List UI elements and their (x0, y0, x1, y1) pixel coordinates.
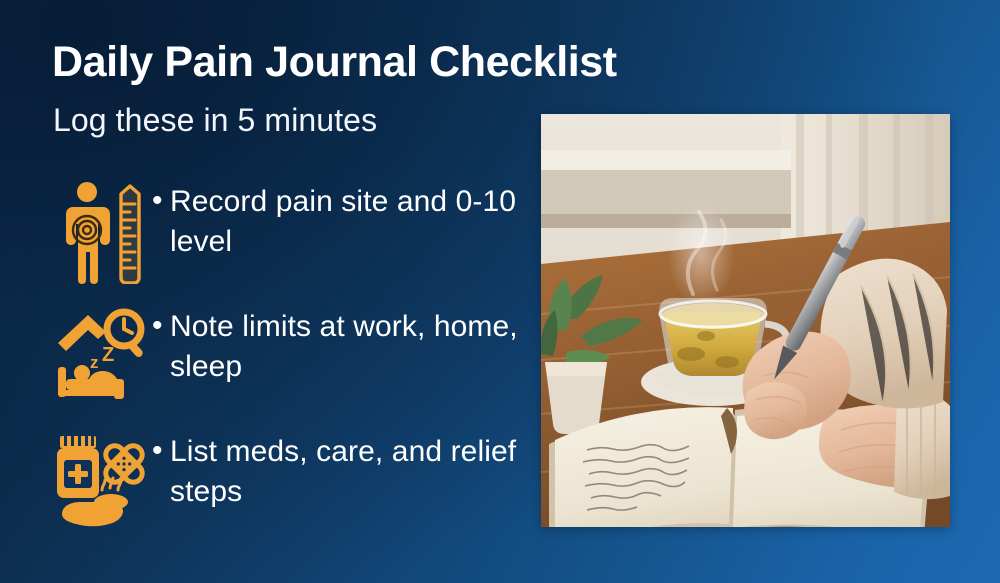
page-title: Daily Pain Journal Checklist (52, 40, 812, 85)
list-item: • List meds, care, and relief steps (52, 426, 522, 551)
list-item-label: Record pain site and 0-10 level (170, 176, 522, 261)
home-clock-bed-icon: z Z (52, 301, 152, 401)
bullet-marker: • (152, 176, 170, 222)
list-item-label: List meds, care, and relief steps (170, 426, 522, 511)
bullet-marker: • (152, 301, 170, 347)
svg-text:Z: Z (102, 344, 114, 366)
list-item: z Z • Note limits at work, home, sleep (52, 301, 522, 426)
page-subtitle: Log these in 5 minutes (53, 102, 377, 139)
journal-writing-photo (541, 114, 950, 527)
list-item: • Record pain site and 0-10 level (52, 176, 522, 301)
svg-text:z: z (90, 353, 99, 372)
photo-illustration (541, 114, 950, 527)
bullet-marker: • (152, 426, 170, 472)
list-item-label: Note limits at work, home, sleep (170, 301, 522, 386)
checklist: • Record pain site and 0-10 level (52, 176, 522, 551)
body-pain-scale-icon (52, 176, 152, 284)
medication-bandage-hand-icon (52, 426, 152, 528)
infographic-slide: Daily Pain Journal Checklist Log these i… (0, 0, 1000, 583)
